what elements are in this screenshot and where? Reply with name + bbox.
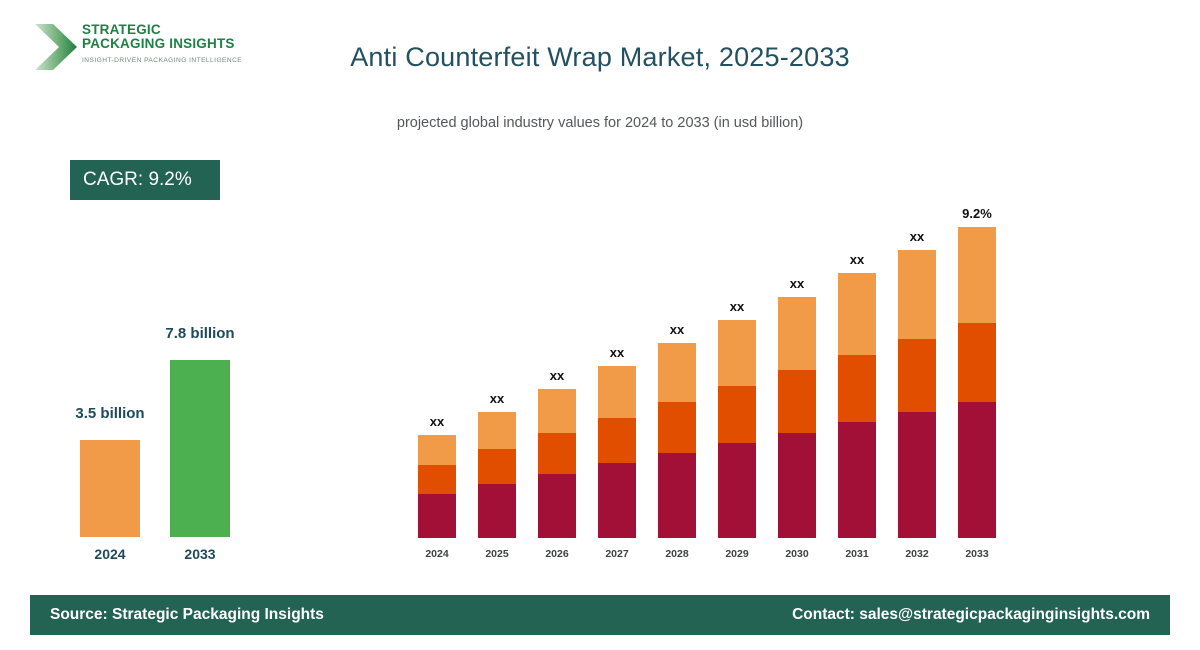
stacked-bar-column: xx2028 <box>658 200 696 560</box>
stacked-bar-column: xx2030 <box>778 200 816 560</box>
bar-segment-mid <box>598 418 636 464</box>
axis-tick-label: 2029 <box>712 548 762 560</box>
axis-tick-label: 2030 <box>772 548 822 560</box>
page-title: Anti Counterfeit Wrap Market, 2025-2033 <box>0 42 1200 73</box>
brand-name-line1: STRATEGIC <box>82 23 247 37</box>
bar-2024 <box>80 440 140 537</box>
axis-tick-label: 2024 <box>80 546 140 562</box>
bar-segment-bottom <box>718 443 756 538</box>
bar-2033 <box>170 360 230 537</box>
bar-segment-bottom <box>778 433 816 538</box>
stacked-bar-column: xx2025 <box>478 200 516 560</box>
bar-segment-mid <box>958 323 996 402</box>
stacked-bar-column: xx2027 <box>598 200 636 560</box>
footer-contact: Contact: sales@strategicpackaginginsight… <box>792 606 1150 624</box>
page-subtitle: projected global industry values for 202… <box>0 115 1200 131</box>
stacked-bar-column: xx2029 <box>718 200 756 560</box>
bar-segment-top <box>478 412 516 449</box>
bar-segment-top <box>598 366 636 418</box>
bar-segment-top <box>658 343 696 402</box>
footer-bar: Source: Strategic Packaging Insights Con… <box>30 595 1170 635</box>
bar-segment-top <box>418 435 456 465</box>
stacked-bar <box>898 250 936 538</box>
bar-value-label: xx <box>644 322 710 337</box>
cagr-badge: CAGR: 9.2% <box>70 160 220 200</box>
axis-tick-label: 2033 <box>170 546 230 562</box>
stacked-bar-column: xx2032 <box>898 200 936 560</box>
bar-segment-bottom <box>418 494 456 538</box>
axis-tick-label: 2031 <box>832 548 882 560</box>
bar-segment-top <box>838 273 876 355</box>
bar-segment-mid <box>418 465 456 494</box>
bar-value-label: 9.2% <box>944 206 1010 221</box>
bar-segment-mid <box>718 386 756 443</box>
bar-segment-mid <box>778 370 816 433</box>
axis-tick-label: 2032 <box>892 548 942 560</box>
stacked-bar-column: xx2031 <box>838 200 876 560</box>
bar-segment-bottom <box>658 453 696 538</box>
cagr-badge-label: CAGR: 9.2% <box>83 169 192 191</box>
axis-tick-label: 2033 <box>952 548 1002 560</box>
bar-value-label: 7.8 billion <box>150 325 250 342</box>
stacked-bar-column: xx2024 <box>418 200 456 560</box>
bar-segment-bottom <box>598 463 636 538</box>
bar-segment-mid <box>838 355 876 422</box>
bar-value-label: xx <box>524 368 590 383</box>
stacked-bar <box>958 227 996 538</box>
stacked-bar <box>658 343 696 538</box>
bar-segment-mid <box>898 339 936 412</box>
stacked-bar-column: xx2026 <box>538 200 576 560</box>
stacked-bar <box>778 297 816 538</box>
bar-segment-bottom <box>898 412 936 538</box>
bar-segment-bottom <box>838 422 876 538</box>
endpoint-comparison-chart: 3.5 billion 7.8 billion 2024 2033 <box>50 300 300 570</box>
bar-segment-mid <box>478 449 516 483</box>
stacked-bar <box>418 435 456 538</box>
axis-tick-label: 2024 <box>412 548 462 560</box>
axis-tick-label: 2027 <box>592 548 642 560</box>
axis-tick-label: 2025 <box>472 548 522 560</box>
bar-segment-top <box>898 250 936 339</box>
bar-value-label: xx <box>584 345 650 360</box>
bar-segment-top <box>958 227 996 323</box>
stacked-bar <box>538 389 576 538</box>
bar-segment-mid <box>658 402 696 454</box>
bar-segment-bottom <box>478 484 516 538</box>
stacked-bar <box>718 320 756 538</box>
bar-value-label: xx <box>824 252 890 267</box>
axis-tick-label: 2028 <box>652 548 702 560</box>
bar-segment-bottom <box>958 402 996 538</box>
bar-value-label: xx <box>464 391 530 406</box>
bar-value-label: xx <box>704 299 770 314</box>
bar-segment-mid <box>538 433 576 473</box>
bar-value-label: xx <box>764 276 830 291</box>
infographic-canvas: STRATEGIC PACKAGING INSIGHTS INSIGHT-DRI… <box>0 0 1200 650</box>
bar-segment-top <box>538 389 576 433</box>
footer-source: Source: Strategic Packaging Insights <box>50 606 324 624</box>
stacked-forecast-chart: xx2024xx2025xx2026xx2027xx2028xx2029xx20… <box>400 200 1040 560</box>
bar-value-label: xx <box>884 229 950 244</box>
bar-value-label: 3.5 billion <box>60 405 160 422</box>
stacked-bar-column: 9.2%2033 <box>958 200 996 560</box>
stacked-bar <box>478 412 516 538</box>
bar-value-label: xx <box>404 414 470 429</box>
axis-tick-label: 2026 <box>532 548 582 560</box>
stacked-bar <box>838 273 876 538</box>
bar-segment-top <box>718 320 756 386</box>
bar-segment-top <box>778 297 816 370</box>
bar-segment-bottom <box>538 474 576 538</box>
stacked-bar <box>598 366 636 538</box>
